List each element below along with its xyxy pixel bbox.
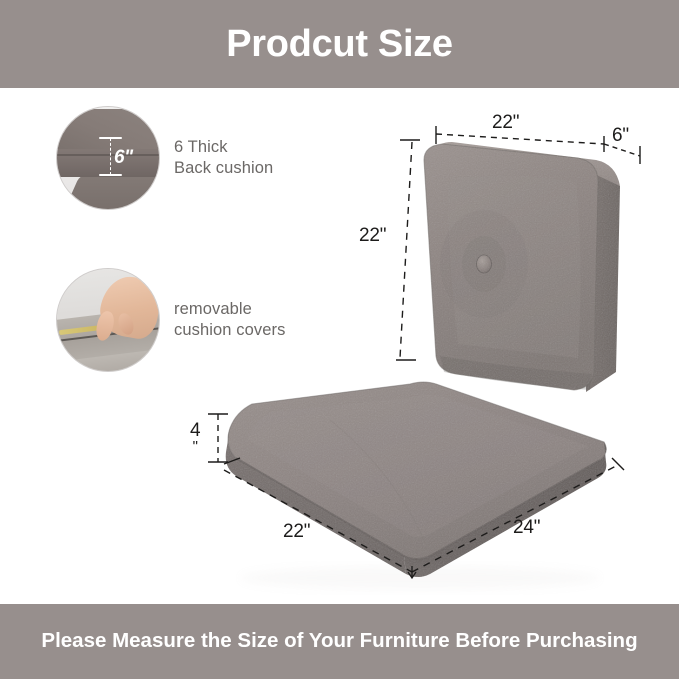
feature-caption-removable-covers: removable cushion covers bbox=[174, 299, 285, 342]
feature-back-cushion: 6" 6 Thick Back cushion bbox=[56, 106, 273, 210]
dimension-label-seat-front-width: 24" bbox=[513, 517, 540, 539]
measure-note: Please Measure the Size of Your Furnitur… bbox=[13, 628, 665, 654]
header-banner: Prodcut Size bbox=[0, 0, 679, 88]
page-title: Prodcut Size bbox=[226, 25, 453, 63]
dimension-label-back-depth: 6" bbox=[612, 125, 629, 147]
dimension-label-seat-left-depth: 22" bbox=[283, 521, 310, 543]
dimension-label-back-height: 22" bbox=[359, 225, 386, 247]
dimension-label-seat-thickness: 4 " bbox=[190, 422, 200, 457]
tufted-button bbox=[477, 255, 492, 273]
seat-thickness-inch-mark: " bbox=[190, 440, 200, 454]
footer-banner: Please Measure the Size of Your Furnitur… bbox=[0, 604, 679, 679]
back-cushion bbox=[424, 142, 620, 392]
photo-dimension-overlay-label: 6" bbox=[114, 147, 133, 169]
back-cushion-thickness-photo: 6" bbox=[56, 106, 160, 210]
feature-removable-covers: removable cushion covers bbox=[56, 268, 285, 372]
dimension-label-back-top-width: 22" bbox=[492, 112, 519, 134]
feature-caption-back-cushion: 6 Thick Back cushion bbox=[174, 137, 273, 180]
removable-cover-zipper-photo bbox=[56, 268, 160, 372]
seat-cushion bbox=[226, 382, 607, 577]
product-size-infographic: Prodcut Size bbox=[0, 0, 679, 679]
